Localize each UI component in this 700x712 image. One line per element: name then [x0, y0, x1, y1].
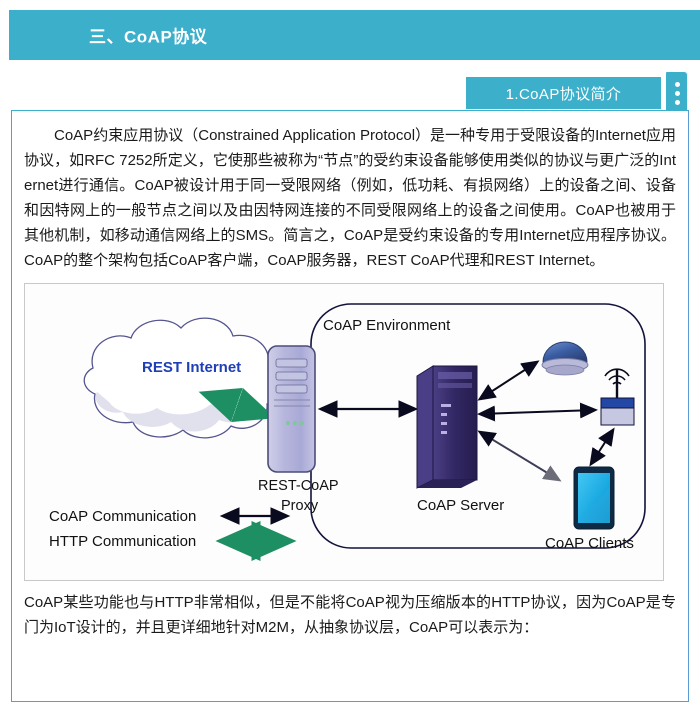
legend-http-communication: HTTP Communication [49, 533, 289, 550]
section-badge[interactable]: 1.CoAP协议简介 [466, 77, 661, 109]
paragraph-outro: CoAP某些功能也与HTTP非常相似，但是不能将CoAP视为压缩版本的HTTP协… [12, 581, 688, 640]
clients-label: CoAP Clients [545, 535, 634, 552]
server-tablet-link [480, 432, 559, 480]
dot-1 [675, 82, 680, 87]
three-dots-vertical-icon[interactable] [666, 72, 688, 114]
legend-coap-communication: CoAP Communication [49, 508, 287, 525]
page-title: 三、CoAP协议 [89, 23, 207, 48]
legend-label-coap: CoAP Communication [49, 508, 196, 525]
tablet-client-icon [574, 467, 614, 529]
legend-label-http: HTTP Communication [49, 533, 196, 550]
antenna-router-icon [601, 369, 634, 425]
dot-3 [675, 100, 680, 105]
cloud-label: REST Internet [142, 359, 241, 376]
coap-server-icon [417, 366, 477, 488]
paragraph-intro: CoAP约束应用协议（Constrained Application Proto… [12, 111, 688, 273]
antenna-tablet-link [591, 430, 613, 464]
environment-label: CoAP Environment [323, 317, 451, 334]
coap-architecture-figure: REST Internet REST-CoAP Proxy CoAP Envir [24, 283, 664, 581]
rest-internet-cloud [84, 318, 279, 438]
server-dome-link [480, 362, 537, 399]
proxy-label-line1: REST-CoAP [258, 478, 339, 494]
content-box: CoAP约束应用协议（Constrained Application Proto… [11, 110, 689, 702]
dot-2 [675, 91, 680, 96]
server-label: CoAP Server [417, 497, 504, 514]
badge-row: 1.CoAP协议简介 [0, 72, 700, 112]
dome-device-icon [542, 342, 588, 375]
coap-architecture-svg: REST Internet REST-CoAP Proxy CoAP Envir [25, 284, 663, 580]
section-header-bar: 三、CoAP协议 [9, 10, 700, 60]
proxy-label-line2: Proxy [281, 498, 319, 514]
server-antenna-link [480, 410, 595, 414]
rest-coap-proxy-icon [268, 346, 315, 472]
